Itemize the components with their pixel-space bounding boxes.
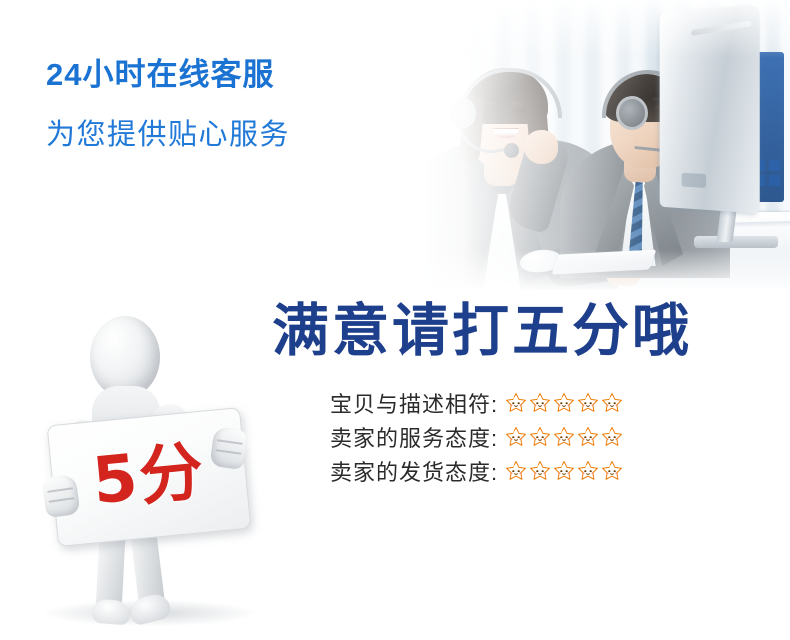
- photo-fade-bottom: [360, 250, 790, 290]
- star-icon[interactable]: [576, 392, 600, 414]
- star-icon[interactable]: [528, 392, 552, 414]
- rating-row-label: 卖家的发货态度:: [330, 455, 498, 487]
- promo-page: 24小时在线客服 为您提供贴心服务 5分 满意请打五分哦: [0, 0, 790, 640]
- mannequin-hand-right: [209, 426, 248, 470]
- rating-row-label: 卖家的服务态度:: [330, 421, 498, 453]
- photo-fade-top: [360, 0, 790, 58]
- star-icon[interactable]: [600, 392, 624, 414]
- star-icon[interactable]: [504, 426, 528, 448]
- star-icon[interactable]: [576, 426, 600, 448]
- rating-rows: 宝贝与描述相符:卖家的服务态度:卖家的发货态度:: [330, 386, 772, 488]
- rating-text-block: 满意请打五分哦 宝贝与描述相符:卖家的服务态度:卖家的发货态度:: [272, 302, 772, 488]
- star-icon[interactable]: [504, 460, 528, 482]
- star-icon[interactable]: [552, 426, 576, 448]
- rating-section: 5分 满意请打五分哦 宝贝与描述相符:卖家的服务态度:卖家的发货态度:: [0, 290, 790, 640]
- rating-stars[interactable]: [504, 392, 624, 414]
- rating-row: 卖家的发货态度:: [330, 454, 772, 488]
- star-icon[interactable]: [528, 426, 552, 448]
- star-icon[interactable]: [600, 426, 624, 448]
- rating-stars[interactable]: [504, 460, 624, 482]
- star-icon[interactable]: [576, 460, 600, 482]
- top-banner: 24小时在线客服 为您提供贴心服务: [0, 0, 790, 290]
- banner-headline-secondary: 为您提供贴心服务: [46, 120, 290, 152]
- rating-stars[interactable]: [504, 426, 624, 448]
- star-icon[interactable]: [600, 460, 624, 482]
- banner-text-block: 24小时在线客服 为您提供贴心服务: [46, 58, 290, 152]
- rating-row-label: 宝贝与描述相符:: [330, 387, 498, 419]
- customer-service-photo: [360, 0, 790, 290]
- rating-row: 宝贝与描述相符:: [330, 386, 772, 420]
- score-sign-text: 5分: [90, 440, 208, 514]
- rating-title: 满意请打五分哦: [272, 302, 772, 362]
- star-icon[interactable]: [552, 460, 576, 482]
- star-icon[interactable]: [552, 392, 576, 414]
- mannequin-figure: 5分: [24, 300, 274, 630]
- rating-row: 卖家的服务态度:: [330, 420, 772, 454]
- star-icon[interactable]: [504, 392, 528, 414]
- star-icon[interactable]: [528, 460, 552, 482]
- banner-headline-primary: 24小时在线客服: [46, 58, 290, 92]
